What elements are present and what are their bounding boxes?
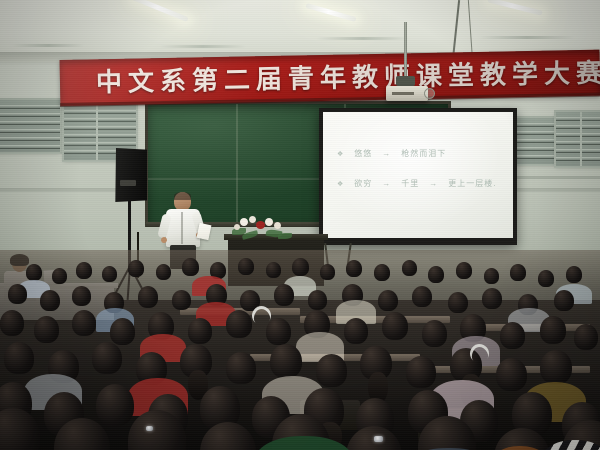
ceiling-light-fixture (480, 36, 574, 39)
slide-term: 更上一层楼. (448, 178, 496, 189)
louvered-window (0, 100, 60, 152)
bullet-icon: ❖ (337, 180, 344, 188)
slide-term: 欲穷 (354, 178, 372, 189)
projector-lens-icon (424, 88, 435, 99)
bullet-icon: ❖ (337, 150, 344, 158)
slide-term: 悠悠 (354, 148, 372, 159)
arrow-icon: → (382, 149, 391, 158)
louvered-window (556, 112, 600, 166)
slide-term: 枪然而泪下 (401, 148, 446, 159)
ceiling-light-fixture (12, 44, 84, 47)
louvered-window (516, 118, 556, 164)
projection-screen: ❖ 悠悠 → 枪然而泪下 ❖ 欲穷 → 千里 → 更上一层楼. (323, 112, 513, 238)
projector-mount-pole (404, 22, 407, 80)
slide-line-2: ❖ 欲穷 → 千里 → 更上一层楼. (337, 178, 497, 189)
lecturer-hair (174, 192, 191, 200)
projection-screen-frame: ❖ 悠悠 → 枪然而泪下 ❖ 欲穷 → 千里 → 更上一层楼. (319, 108, 517, 245)
projector-icon (386, 86, 428, 101)
lecture-hall-photo: 中文系第二届青年教师课堂教学大赛 ❖ 悠悠 → 枪然而泪下 ❖ 欲穷 → 千里 … (0, 0, 600, 450)
arrow-icon: → (429, 179, 438, 188)
arrow-icon: → (382, 179, 391, 188)
projector-bracket (396, 76, 415, 86)
ceiling-light-fixture (160, 45, 246, 48)
pa-speaker-icon (114, 148, 147, 202)
ceiling-light-fixture (317, 37, 409, 40)
flower-arrangement (232, 216, 294, 240)
student-audience (0, 250, 600, 450)
slide-line-1: ❖ 悠悠 → 枪然而泪下 (337, 148, 446, 159)
slide-term: 千里 (401, 178, 419, 189)
lecturer-hand (161, 237, 167, 243)
